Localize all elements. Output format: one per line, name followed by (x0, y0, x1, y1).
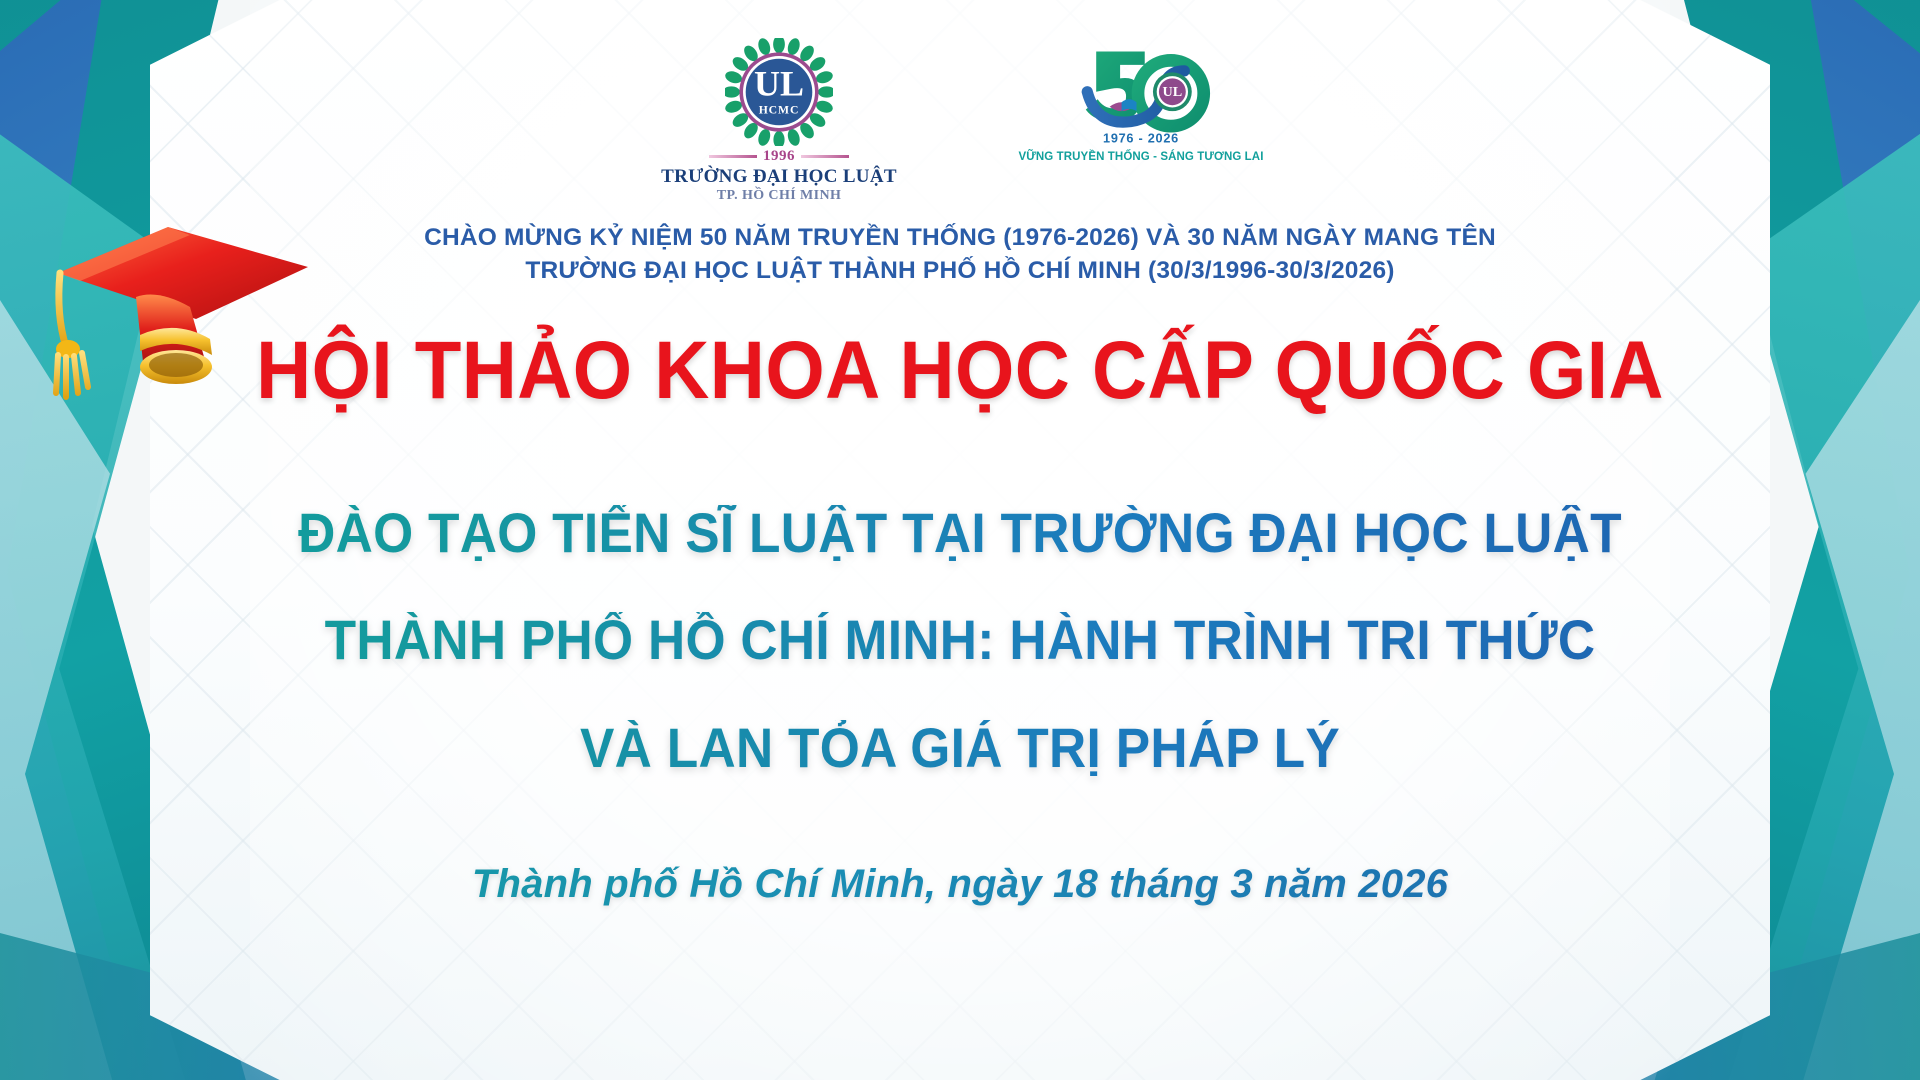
subtitle-line-1: ĐÀO TẠO TIẾN SĨ LUẬT TẠI TRƯỜNG ĐẠI HỌC … (77, 505, 1843, 561)
logo-row: UL HCMC 1996 TRƯỜNG ĐẠI HỌC LUẬT TP. HỒ … (0, 38, 1920, 205)
university-logo: UL HCMC 1996 TRƯỜNG ĐẠI HỌC LUẬT TP. HỒ … (629, 38, 929, 205)
fifty-years-anniversary-icon: UL 1976 - 2026 (1066, 38, 1216, 150)
graduation-cap-icon (40, 215, 330, 405)
year-rule-right (801, 155, 849, 158)
svg-text:UL: UL (1163, 84, 1183, 100)
conference-banner: UL HCMC 1996 TRƯỜNG ĐẠI HỌC LUẬT TP. HỒ … (0, 0, 1920, 1080)
year-rule-left (709, 155, 757, 158)
anniversary-tagline: VỮNG TRUYỀN THỐNG - SÁNG TƯƠNG LAI (1018, 151, 1263, 163)
svg-text:1976 - 2026: 1976 - 2026 (1103, 132, 1179, 146)
university-crest-icon: UL HCMC (725, 38, 833, 146)
subtitle-line-3: VÀ LAN TỎA GIÁ TRỊ PHÁP LÝ (77, 720, 1843, 776)
founded-year-row: 1996 (709, 148, 849, 165)
subtitle-line-2: THÀNH PHỐ HỒ CHÍ MINH: HÀNH TRÌNH TRI TH… (77, 612, 1843, 668)
event-date-location: Thành phố Hồ Chí Minh, ngày 18 tháng 3 n… (0, 862, 1920, 907)
svg-text:HCMC: HCMC (759, 104, 800, 117)
anniversary-logo: UL 1976 - 2026 VỮNG TRUYỀN THỐNG - SÁNG … (991, 38, 1291, 163)
banner-content: UL HCMC 1996 TRƯỜNG ĐẠI HỌC LUẬT TP. HỒ … (0, 0, 1920, 1080)
svg-text:UL: UL (754, 64, 804, 104)
main-title: HỘI THẢO KHOA HỌC CẤP QUỐC GIA (67, 330, 1853, 412)
university-name-line1: TRƯỜNG ĐẠI HỌC LUẬT (661, 166, 897, 188)
university-name-line2: TP. HỒ CHÍ MINH (717, 188, 842, 205)
founded-year: 1996 (763, 148, 795, 165)
